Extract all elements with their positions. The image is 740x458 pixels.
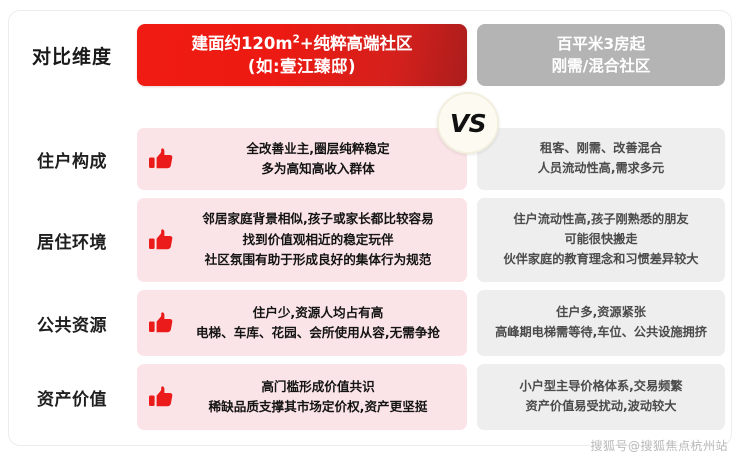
standard-cell-line: 租客、刚需、改善混合 (538, 139, 665, 159)
standard-cell-line: 资产价值易受扰动,波动较大 (519, 397, 682, 417)
standard-cell-line: 人员流动性高,需求多元 (538, 159, 665, 179)
premium-cell-text: 全改善业主,圈层纯粹稳定 多为高知高收入群体 (181, 139, 459, 180)
header-row: 对比维度 建面约120m2+纯粹高端社区 (如:壹江臻邸) 百平米3房起 刚需/… (9, 24, 732, 86)
premium-cell: 住户少,资源人均占有高 电梯、车库、花园、会所使用从容,无需争抢 (137, 290, 467, 356)
thumbs-up-icon (141, 385, 181, 409)
spacer (467, 198, 477, 282)
premium-cell: 高门槛形成价值共识 稀缺品质支撑其市场定价权,资产更坚挺 (137, 364, 467, 430)
standard-cell-line: 伙伴家庭的教育理念和习惯差异较大 (504, 250, 699, 270)
row-label-cell: 公共资源 (9, 290, 131, 356)
header-left-col: 建面约120m2+纯粹高端社区 (如:壹江臻邸) (137, 24, 467, 86)
vs-badge: VS (437, 92, 499, 154)
header-standard-banner: 百平米3房起 刚需/混合社区 (477, 24, 725, 86)
header-premium-line2: (如:壹江臻邸) (248, 55, 356, 78)
standard-cell: 住户多,资源紧张 高峰期电梯需等待,车位、公共设施拥挤 (477, 290, 725, 356)
row-label-cell: 住户构成 (9, 128, 131, 190)
dimension-title: 对比维度 (32, 42, 112, 69)
spacer (467, 364, 477, 430)
standard-cell-text: 住户流动性高,孩子刚熟悉的朋友 可能很快搬走 伙伴家庭的教育理念和习惯差异较大 (504, 210, 699, 269)
premium-cell-text: 住户少,资源人均占有高 电梯、车库、花园、会所使用从容,无需争抢 (181, 303, 459, 344)
thumbs-up-icon (141, 147, 181, 171)
header-standard-line1: 百平米3房起 (557, 33, 645, 55)
premium-cell: 邻居家庭背景相似,孩子或家长都比较容易 找到价值观相近的稳定玩伴 社区氛围有助于… (137, 198, 467, 282)
spacer (467, 24, 477, 86)
table-row: 居住环境 邻居家庭背景相似,孩子或家长都比较容易 找到价值观相近的稳定玩伴 社区… (9, 198, 732, 282)
standard-cell-line: 可能很快搬走 (504, 230, 699, 250)
row-right-col: 租客、刚需、改善混合 人员流动性高,需求多元 (477, 128, 725, 190)
premium-cell-line: 电梯、车库、花园、会所使用从容,无需争抢 (181, 323, 455, 343)
standard-cell-line: 住户流动性高,孩子刚熟悉的朋友 (504, 210, 699, 230)
thumbs-up-icon (141, 311, 181, 335)
row-label: 居住环境 (37, 228, 107, 253)
header-premium-line1-prefix: 建面约120m (191, 34, 292, 53)
comparison-card: 对比维度 建面约120m2+纯粹高端社区 (如:壹江臻邸) 百平米3房起 刚需/… (8, 10, 732, 446)
standard-cell-text: 租客、刚需、改善混合 人员流动性高,需求多元 (538, 139, 665, 179)
standard-cell-line: 高峰期电梯需等待,车位、公共设施拥挤 (495, 323, 707, 343)
header-premium-line1-suffix: +纯粹高端社区 (300, 34, 413, 53)
row-left-col: 邻居家庭背景相似,孩子或家长都比较容易 找到价值观相近的稳定玩伴 社区氛围有助于… (137, 198, 467, 282)
standard-cell: 住户流动性高,孩子刚熟悉的朋友 可能很快搬走 伙伴家庭的教育理念和习惯差异较大 (477, 198, 725, 282)
row-left-col: 住户少,资源人均占有高 电梯、车库、花园、会所使用从容,无需争抢 (137, 290, 467, 356)
watermark: 搜狐号@搜狐焦点杭州站 (590, 437, 728, 454)
spacer (467, 290, 477, 356)
table-row: 公共资源 住户少,资源人均占有高 电梯、车库、花园、会所使用从容,无需争抢 (9, 290, 732, 356)
row-label: 公共资源 (37, 311, 107, 336)
table-row: 住户构成 全改善业主,圈层纯粹稳定 多为高知高收入群体 (9, 128, 732, 190)
header-premium-line1: 建面约120m2+纯粹高端社区 (191, 32, 412, 55)
row-label: 住户构成 (37, 147, 107, 172)
dimension-label-cell: 对比维度 (9, 24, 131, 86)
premium-cell-line: 邻居家庭背景相似,孩子或家长都比较容易 (181, 209, 455, 229)
premium-cell-line: 高门槛形成价值共识 (181, 377, 455, 397)
premium-cell-line: 住户少,资源人均占有高 (181, 303, 455, 323)
header-premium-banner: 建面约120m2+纯粹高端社区 (如:壹江臻邸) (137, 24, 467, 86)
row-left-col: 高门槛形成价值共识 稀缺品质支撑其市场定价权,资产更坚挺 (137, 364, 467, 430)
premium-cell-line: 多为高知高收入群体 (181, 159, 455, 179)
standard-cell-text: 小户型主导价格体系,交易频繁 资产价值易受扰动,波动较大 (519, 377, 682, 417)
premium-cell-line: 找到价值观相近的稳定玩伴 (181, 230, 455, 250)
premium-cell: 全改善业主,圈层纯粹稳定 多为高知高收入群体 (137, 128, 467, 190)
premium-cell-line: 稀缺品质支撑其市场定价权,资产更坚挺 (181, 397, 455, 417)
standard-cell-text: 住户多,资源紧张 高峰期电梯需等待,车位、公共设施拥挤 (495, 303, 707, 343)
standard-cell-line: 住户多,资源紧张 (495, 303, 707, 323)
row-label-cell: 资产价值 (9, 364, 131, 430)
standard-cell: 租客、刚需、改善混合 人员流动性高,需求多元 (477, 128, 725, 190)
premium-cell-text: 邻居家庭背景相似,孩子或家长都比较容易 找到价值观相近的稳定玩伴 社区氛围有助于… (181, 209, 459, 270)
premium-cell-line: 全改善业主,圈层纯粹稳定 (181, 139, 455, 159)
row-right-col: 住户流动性高,孩子刚熟悉的朋友 可能很快搬走 伙伴家庭的教育理念和习惯差异较大 (477, 198, 725, 282)
row-label: 资产价值 (37, 385, 107, 410)
standard-cell-line: 小户型主导价格体系,交易频繁 (519, 377, 682, 397)
row-right-col: 住户多,资源紧张 高峰期电梯需等待,车位、公共设施拥挤 (477, 290, 725, 356)
row-left-col: 全改善业主,圈层纯粹稳定 多为高知高收入群体 (137, 128, 467, 190)
premium-cell-line: 社区氛围有助于形成良好的集体行为规范 (181, 250, 455, 270)
header-right-col: 百平米3房起 刚需/混合社区 (477, 24, 725, 86)
standard-cell: 小户型主导价格体系,交易频繁 资产价值易受扰动,波动较大 (477, 364, 725, 430)
premium-cell-text: 高门槛形成价值共识 稀缺品质支撑其市场定价权,资产更坚挺 (181, 377, 459, 418)
vs-label: VS (450, 109, 486, 138)
row-right-col: 小户型主导价格体系,交易频繁 资产价值易受扰动,波动较大 (477, 364, 725, 430)
thumbs-up-icon (141, 228, 181, 252)
header-standard-line2: 刚需/混合社区 (552, 55, 651, 77)
row-label-cell: 居住环境 (9, 198, 131, 282)
table-row: 资产价值 高门槛形成价值共识 稀缺品质支撑其市场定价权,资产更坚挺 (9, 364, 732, 430)
square-meter-superscript: 2 (293, 34, 300, 45)
